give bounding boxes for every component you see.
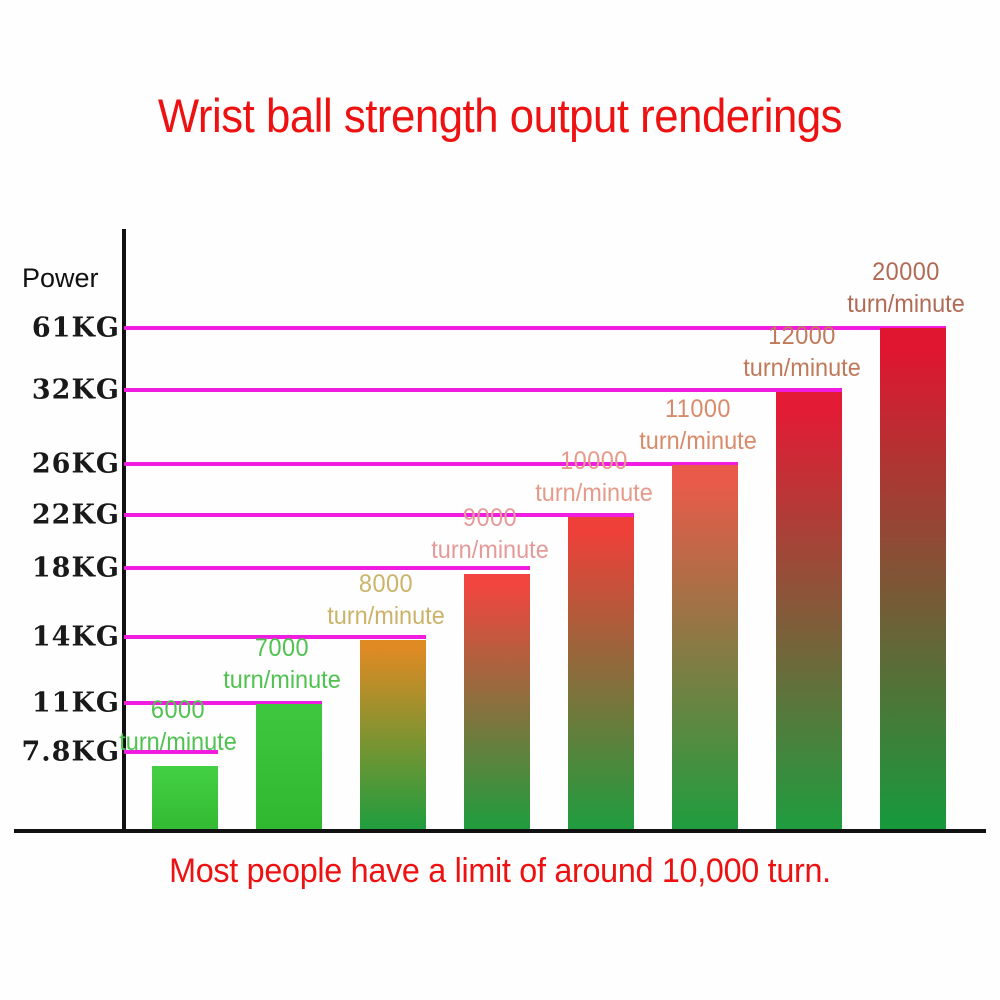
bar-6000 <box>152 766 218 829</box>
bar-unit-label: turn/minute <box>719 352 884 384</box>
bar-9000 <box>464 574 530 829</box>
bar-label-11000: 11000turn/minute <box>615 393 780 457</box>
bar-value-label: 7000 <box>199 632 364 664</box>
bar-label-9000: 9000turn/minute <box>407 502 572 566</box>
bar-value-label: 12000 <box>719 320 884 352</box>
x-axis-line <box>14 829 986 833</box>
chart-canvas: Wrist ball strength output renderings Po… <box>0 0 1000 1000</box>
bar-value-label: 20000 <box>823 256 988 288</box>
bar-20000 <box>880 328 946 829</box>
bar-12000 <box>776 392 842 829</box>
bar-label-6000: 6000turn/minute <box>95 694 260 758</box>
bar-unit-label: turn/minute <box>199 664 364 696</box>
y-tick-label: 26KG <box>8 449 120 480</box>
chart-caption: Most people have a limit of around 10,00… <box>25 852 975 891</box>
bar-unit-label: turn/minute <box>303 600 468 632</box>
bar-label-8000: 8000turn/minute <box>303 568 468 632</box>
bar-10000 <box>568 517 634 829</box>
bar-unit-label: turn/minute <box>823 288 988 320</box>
bar-unit-label: turn/minute <box>95 726 260 758</box>
bar-unit-label: turn/minute <box>511 477 676 509</box>
y-tick-label: 18KG <box>8 553 120 584</box>
bar-value-label: 6000 <box>95 694 260 726</box>
bar-11000 <box>672 465 738 829</box>
bar-7000 <box>256 704 322 829</box>
y-tick-label: 14KG <box>8 622 120 653</box>
bar-unit-label: turn/minute <box>407 534 572 566</box>
y-axis-title: Power <box>22 263 99 294</box>
bar-8000 <box>360 640 426 829</box>
y-tick-label: 22KG <box>8 500 120 531</box>
bar-unit-label: turn/minute <box>615 425 780 457</box>
bar-value-label: 8000 <box>303 568 468 600</box>
gridline <box>124 388 842 392</box>
bar-label-7000: 7000turn/minute <box>199 632 364 696</box>
bar-label-12000: 12000turn/minute <box>719 320 884 384</box>
bar-value-label: 11000 <box>615 393 780 425</box>
plot-area: Power 61KG32KG26KG22KG18KG14KG11KG7.8KG … <box>0 0 1000 1000</box>
y-tick-label: 61KG <box>8 313 120 344</box>
y-tick-label: 32KG <box>8 375 120 406</box>
bar-label-20000: 20000turn/minute <box>823 256 988 320</box>
